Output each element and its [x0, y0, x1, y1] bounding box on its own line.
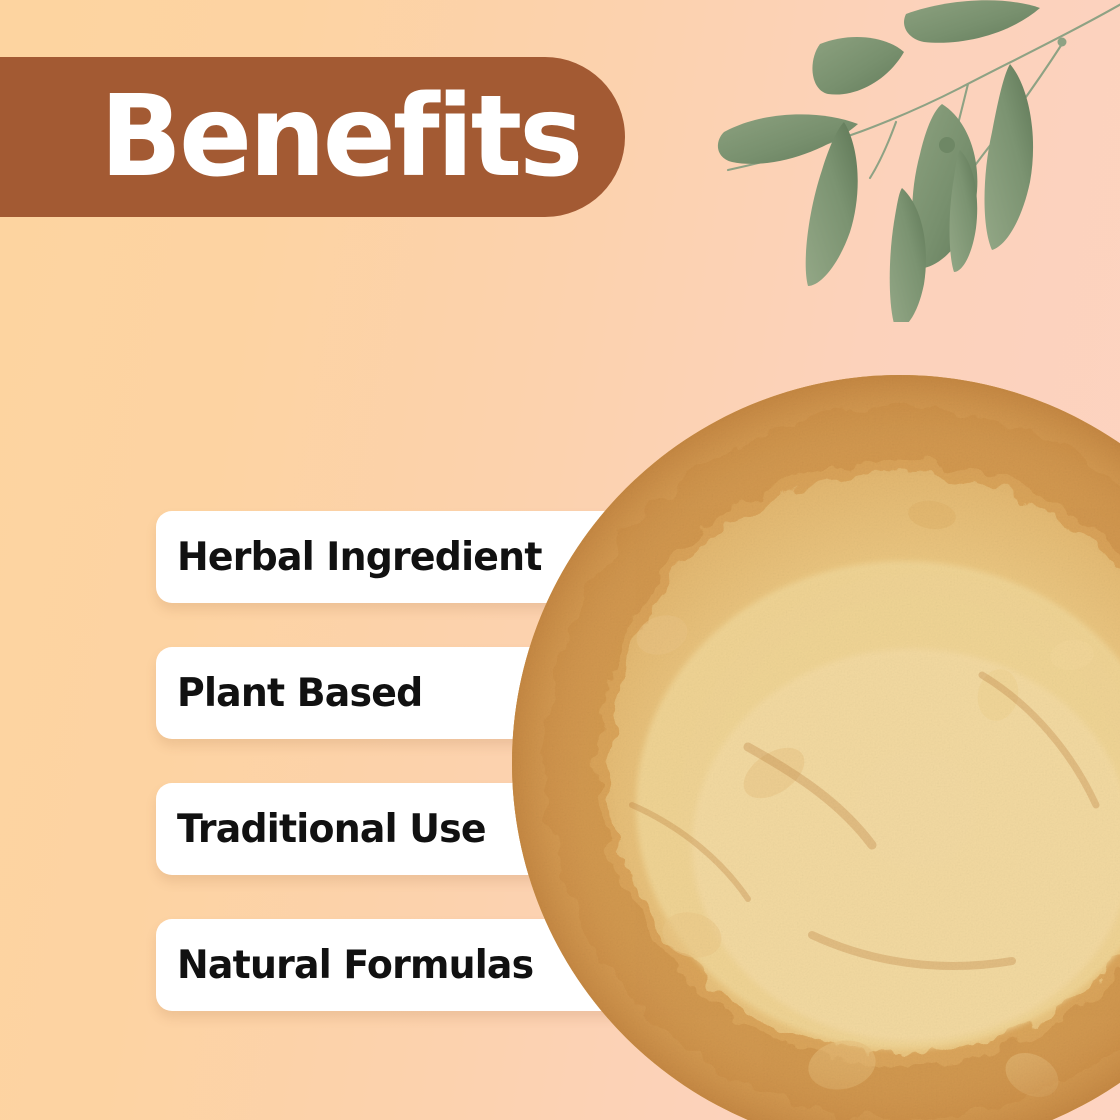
herbal-powder-photo — [512, 375, 1120, 1120]
benefit-label: Herbal Ingredient — [177, 538, 542, 577]
eucalyptus-branch-icon — [710, 0, 1120, 322]
powder-texture — [512, 375, 1120, 1120]
page-title: Benefits — [100, 81, 580, 193]
benefit-label: Traditional Use — [177, 810, 486, 849]
benefit-label: Natural Formulas — [177, 946, 533, 985]
benefit-label: Plant Based — [177, 674, 423, 713]
benefits-poster: Benefits Herbal Ingredient Plant Based T… — [0, 0, 1120, 1120]
title-banner: Benefits — [0, 57, 625, 217]
